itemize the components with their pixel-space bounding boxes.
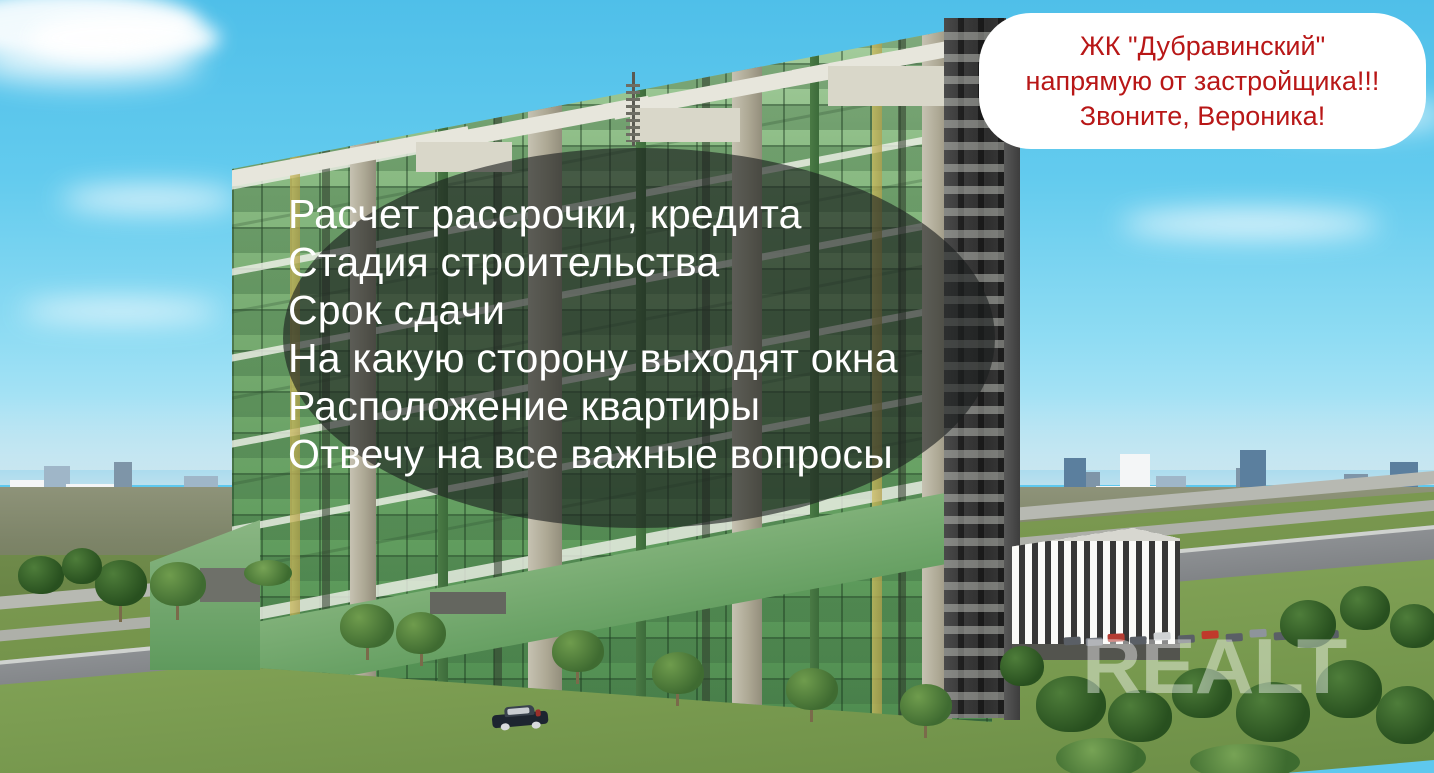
offer-line: Отвечу на все важные вопросы xyxy=(288,430,1048,478)
roof-mast xyxy=(626,84,640,142)
cloud xyxy=(1120,210,1380,238)
cloud xyxy=(60,186,240,212)
offer-line: Расположение квартиры xyxy=(288,382,1048,430)
car-wheel xyxy=(500,723,510,731)
promo-callout-bubble: ЖК "Дубравинский" напрямую от застройщик… xyxy=(979,13,1426,149)
tree xyxy=(150,562,206,606)
tree xyxy=(396,612,446,654)
shrub xyxy=(1190,744,1300,773)
car-taillight xyxy=(535,709,541,716)
tree xyxy=(340,604,394,648)
tree xyxy=(652,652,704,694)
promo-line: напрямую от застройщика!!! xyxy=(1026,64,1380,99)
car-on-road xyxy=(491,704,549,733)
tree xyxy=(95,560,147,606)
utility-box xyxy=(430,592,506,614)
tree xyxy=(1000,646,1044,686)
roof-block xyxy=(630,108,740,142)
promo-line: Звоните, Вероника! xyxy=(1026,99,1380,134)
parked-car xyxy=(1064,637,1081,646)
offer-bullets: Расчет рассрочки, кредита Стадия строите… xyxy=(288,190,1048,478)
tree xyxy=(900,684,952,726)
tree xyxy=(18,556,64,594)
offer-line: Срок сдачи xyxy=(288,286,1048,334)
offer-line: На какую сторону выходят окна xyxy=(288,334,1048,382)
car-wheel xyxy=(531,721,541,729)
roof-block xyxy=(828,66,948,106)
tree xyxy=(62,548,102,584)
shrub xyxy=(244,560,292,586)
tree xyxy=(1390,604,1434,648)
offer-line: Стадия строительства xyxy=(288,238,1048,286)
tree xyxy=(552,630,604,672)
offer-line: Расчет рассрочки, кредита xyxy=(288,190,1048,238)
tree xyxy=(1376,686,1434,744)
cloud xyxy=(20,300,220,322)
tree xyxy=(1340,586,1390,630)
promo-callout-text: ЖК "Дубравинский" напрямую от застройщик… xyxy=(1026,29,1380,134)
shrub xyxy=(1056,738,1146,773)
tree xyxy=(786,668,838,710)
listing-photo: Расчет рассрочки, кредита Стадия строите… xyxy=(0,0,1434,773)
promo-line: ЖК "Дубравинский" xyxy=(1026,29,1380,64)
realt-watermark: REALT xyxy=(1082,627,1346,705)
